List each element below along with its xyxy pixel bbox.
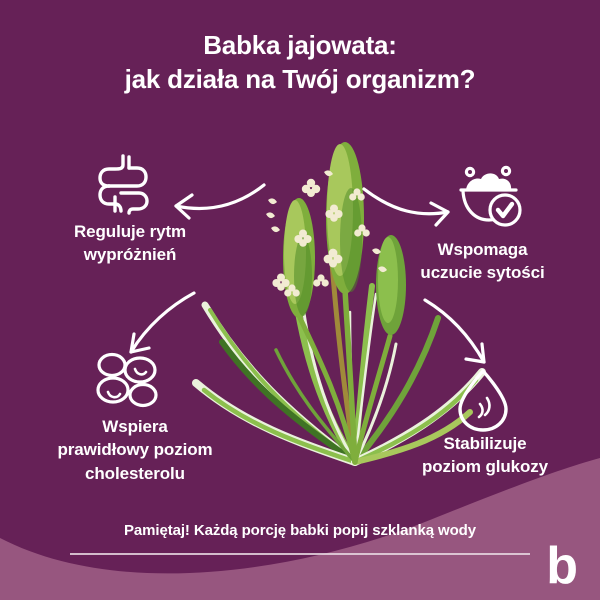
- footer-divider: [70, 553, 530, 555]
- bowl-check-icon: [452, 162, 524, 230]
- benefit-label-cholesterol: Wspiera prawidłowy poziom cholesterolu: [15, 415, 255, 485]
- benefit-label-bowel-rhythm: Reguluje rytm wypróżnień: [20, 220, 240, 267]
- arrow-to-top-left: [176, 185, 264, 218]
- intestine-icon: [93, 152, 157, 216]
- arrow-to-bottom-right: [425, 300, 484, 362]
- arrow-to-bottom-left: [131, 293, 194, 352]
- brand-logo: b: [546, 540, 578, 592]
- benefit-label-glucose: Stabilizuje poziom glukozy: [380, 432, 590, 479]
- water-drop-icon: [452, 366, 514, 436]
- lipid-droplets-icon: [93, 352, 159, 410]
- footer-note: Pamiętaj! Każdą porcję babki popij szkla…: [0, 522, 600, 539]
- arrow-connectors: [0, 0, 600, 600]
- infographic-canvas: Babka jajowata: jak działa na Twój organ…: [0, 0, 600, 600]
- benefit-label-satiety: Wspomaga uczucie sytości: [375, 238, 590, 285]
- arrow-to-top-right: [364, 189, 448, 225]
